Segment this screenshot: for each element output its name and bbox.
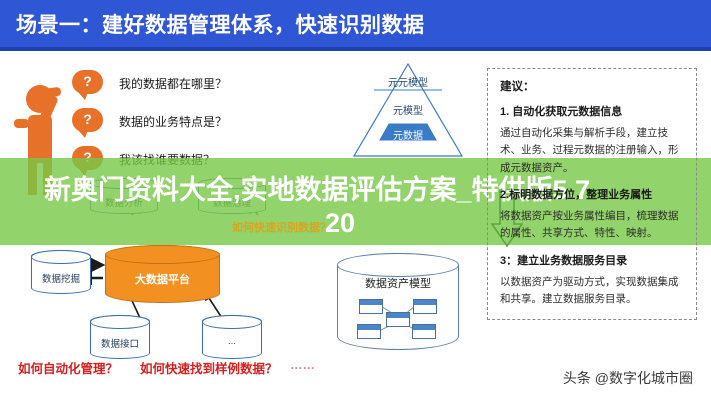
cylinder-top-ellipse <box>90 315 150 329</box>
question-bubble-2: ? <box>72 108 103 132</box>
cylinder-top-ellipse <box>31 250 91 264</box>
identify-data-label: 如何快速识别数据？ <box>232 219 331 235</box>
cylinder-bigdata-platform: 大数据平台 <box>105 245 220 303</box>
advice-heading: 建议： <box>500 78 686 94</box>
header-banner: 场景一：建好数据管理体系，快速识别数据 <box>0 0 711 47</box>
red-question-1: 如何自动化管理？ <box>18 358 118 377</box>
person-torso <box>28 115 52 163</box>
person-left-arm <box>14 119 29 128</box>
advice-panel: 建议： 1. 自动化获取元数据信息 通过自动化采集与解析手段，建立技术、业务、过… <box>487 68 697 320</box>
cylinder-data-interface: 数据接口 <box>90 315 150 359</box>
cylinder-label: 大数据平台 <box>106 271 219 287</box>
question-mark-icon: ? <box>72 70 103 94</box>
metadata-pyramid-diagram: 元元模型 元模型 元数据 <box>352 62 464 158</box>
advice-item-body-1: 通过自动化采集与解析手段，建立技术、业务、过程元数据的注册输入，形成元数据资产。 <box>500 125 686 177</box>
pyramid-level-label-1: 元元模型 <box>352 74 464 89</box>
advice-item-body-2: 将数据资产按业务属性编目，梳理数据的属性、共享方式、特性、映射。 <box>500 208 686 243</box>
question-text-1: 我的数据都在哪里？ <box>119 75 227 92</box>
screenshot-root: 场景一：建好数据管理体系，快速识别数据 ? 我的数据都在哪里？ ? 数据的业务特… <box>0 0 711 400</box>
question-text-2: 数据的业务特点是？ <box>119 113 227 130</box>
advice-content: 建议： 1. 自动化获取元数据信息 通过自动化采集与解析手段，建立技术、业务、过… <box>500 78 686 317</box>
pyramid-level-label-3: 元数据 <box>352 127 464 142</box>
advice-item-body-3: 以数据资产为驱动方式，实现数据集成和共享。建立数据服务目录。 <box>500 274 686 309</box>
header-underline-divider <box>0 47 711 51</box>
asset-node-box <box>359 299 383 314</box>
advice-item-title-3: 3：建立业务数据服务目录 <box>500 252 686 268</box>
cylinder-top-ellipse <box>202 315 262 329</box>
advice-item-title-2: 2.标明数据方位，整理业务属性 <box>500 186 686 202</box>
asset-node-box <box>357 324 381 339</box>
question-bubble-1: ? <box>72 70 103 94</box>
cylinder-top-ellipse <box>105 245 220 264</box>
cylinder-label: 数据接口 <box>91 336 149 350</box>
footer-watermark: 头条 @数字化城市圈 <box>563 368 693 388</box>
cylinder-more: ... <box>202 315 262 359</box>
cylinder-label: ... <box>203 336 261 347</box>
asset-node-box <box>412 324 436 339</box>
red-question-2: 如何快速找到样例数据？ <box>140 358 278 377</box>
cylinder-data-asset-model: 数据资产模型 <box>337 253 459 350</box>
pyramid-level-label-2: 元模型 <box>352 102 464 117</box>
asset-model-links <box>338 254 458 349</box>
cylinder-label: 数据挖掘 <box>32 271 90 285</box>
cylinder-data-mining: 数据挖掘 <box>31 250 91 294</box>
question-mark-icon: ? <box>72 108 103 132</box>
asset-node-box <box>413 299 437 314</box>
asset-node-box-center <box>386 312 410 327</box>
red-question-3: …… <box>290 358 315 372</box>
watermark-text-line2: 20 <box>325 208 355 239</box>
page-title: 场景一：建好数据管理体系，快速识别数据 <box>16 9 425 39</box>
advice-item-title-1: 1. 自动化获取元数据信息 <box>500 103 686 119</box>
